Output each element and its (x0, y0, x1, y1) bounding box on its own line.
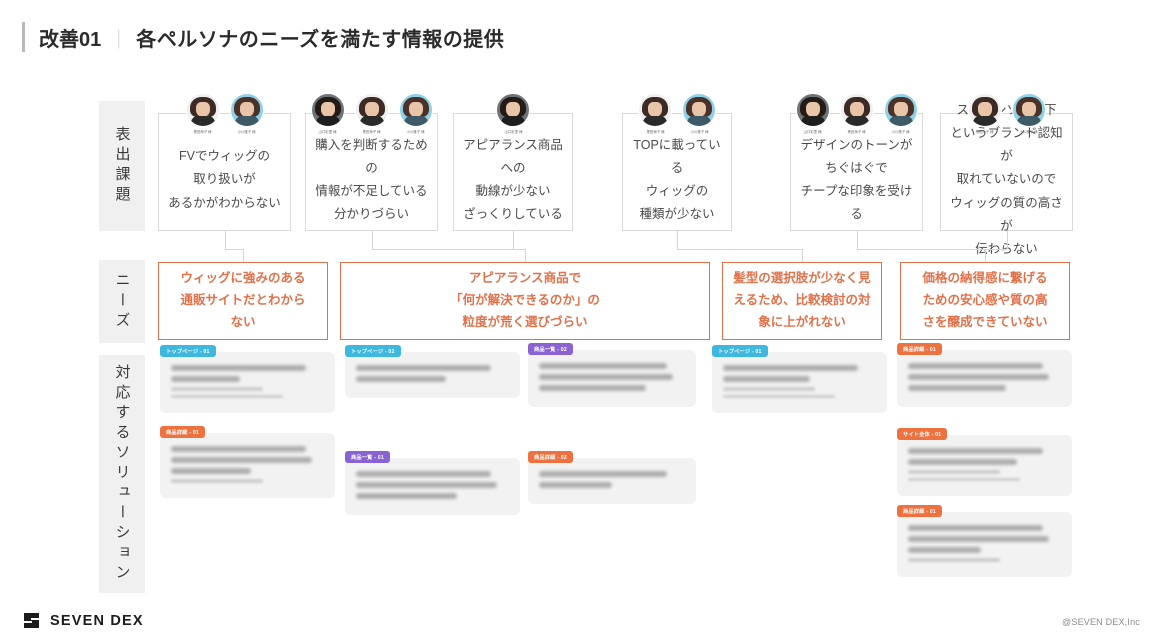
card-text-line (539, 385, 646, 391)
solution-card[interactable]: トップページ - 01 (160, 352, 335, 413)
persona: 小川雅子 様 (227, 93, 267, 136)
solution-badge: 商品詳細 - 02 (528, 451, 573, 463)
need-text: 価格の納得感に繋げる ための安心感や質の高 さを醸成できていない (922, 268, 1047, 334)
persona-name: 小川雅子 様 (1019, 129, 1037, 135)
card-text-line (723, 376, 810, 382)
card-text-line (356, 493, 457, 499)
persona-group: 黒田海子 様 小川雅子 様 (941, 93, 1072, 136)
issue-box: 山口彩里 様 黒田海子 様 小川雅子 様 購入を判断するための 情報が不足してい… (305, 113, 438, 231)
card-text-line (539, 363, 667, 369)
footer-logo: SEVEN DEX (22, 611, 144, 630)
persona: 黒田海子 様 (352, 93, 392, 136)
solution-badge: トップページ - 02 (345, 345, 401, 357)
connector-line (225, 231, 226, 249)
avatar (968, 93, 1002, 127)
persona-name: 山口彩里 様 (803, 129, 821, 135)
persona-group: 山口彩里 様 (454, 93, 572, 136)
slide-canvas: 改善01｜各ペルソナのニーズを満たす情報の提供 表出課題 ニーズ 対応するソリュ… (0, 0, 1160, 642)
issue-box: 黒田海子 様 小川雅子 様 FVでウィッグの 取り扱いが あるかがわからない (158, 113, 291, 231)
card-text-line (356, 471, 491, 477)
avatar (399, 93, 433, 127)
persona-group: 黒田海子 様 小川雅子 様 (623, 93, 731, 136)
solution-card[interactable]: トップページ - 02 (345, 352, 520, 398)
solution-badge: トップページ - 01 (712, 345, 768, 357)
solution-badge: 商品一覧 - 02 (528, 343, 573, 355)
solution-card[interactable]: 商品詳細 - 01 (160, 433, 335, 498)
persona-name: 小川雅子 様 (891, 129, 909, 135)
card-subtext-line (723, 395, 835, 399)
connector-line (225, 249, 244, 250)
card-text-line (356, 365, 491, 371)
issue-text: TOPに載っている ウィッグの 種類が少ない (629, 134, 725, 227)
title-heading: 各ペルソナのニーズを満たす情報の提供 (136, 29, 504, 51)
persona: 黒田海子 様 (183, 93, 223, 136)
connector-line (525, 249, 526, 262)
solution-card[interactable]: 商品詳細 - 01 (897, 512, 1072, 577)
connector-line (677, 249, 802, 250)
solution-badge: サイト全体 - 01 (897, 428, 947, 440)
solution-badge: 商品詳細 - 01 (897, 505, 942, 517)
persona-group: 黒田海子 様 小川雅子 様 (159, 93, 290, 136)
persona-name: 黒田海子 様 (193, 129, 211, 135)
persona-name: 黒田海子 様 (646, 129, 664, 135)
avatar (311, 93, 345, 127)
avatar (796, 93, 830, 127)
persona: 黒田海子 様 (837, 93, 877, 136)
issue-text: アピアランス商品への 動線が少ない ざっくりしている (460, 134, 566, 227)
card-subtext-line (171, 387, 263, 391)
avatar (355, 93, 389, 127)
card-text-line (539, 471, 667, 477)
persona-group: 山口彩里 様 黒田海子 様 小川雅子 様 (791, 93, 922, 136)
persona-name: 山口彩里 様 (318, 129, 336, 135)
card-text-line (171, 365, 306, 371)
issue-text: 購入を判断するための 情報が不足している 分かりづらい (312, 134, 431, 227)
issue-box: 山口彩里 様 アピアランス商品への 動線が少ない ざっくりしている (453, 113, 573, 231)
need-box: ウィッグに強みのある 通販サイトだとわから ない (158, 262, 328, 340)
connector-line (802, 249, 803, 262)
solution-badge: 商品一覧 - 01 (345, 451, 390, 463)
avatar (840, 93, 874, 127)
issue-box: 黒田海子 様 小川雅子 様 TOPに載っている ウィッグの 種類が少ない (622, 113, 732, 231)
avatar (230, 93, 264, 127)
connector-line (1007, 231, 1008, 249)
persona-name: 山口彩里 様 (504, 129, 522, 135)
avatar (638, 93, 672, 127)
card-text-line (908, 448, 1043, 454)
row-label-issues: 表出課題 (99, 101, 145, 231)
connector-line (372, 249, 526, 250)
solution-badge: 商品詳細 - 01 (897, 343, 942, 355)
copyright-text: @SEVEN DEX,Inc (1062, 617, 1140, 627)
persona-name: 小川雅子 様 (690, 129, 708, 135)
persona: 山口彩里 様 (793, 93, 833, 136)
card-text-line (723, 365, 858, 371)
persona: 山口彩里 様 (493, 93, 533, 136)
title-number: 改善01 (39, 29, 101, 51)
issue-box: 黒田海子 様 小川雅子 様 スヴェンソン傘下 というブランド認知が 取れていない… (940, 113, 1073, 231)
card-subtext-line (723, 387, 815, 391)
persona: 小川雅子 様 (881, 93, 921, 136)
card-subtext-line (171, 395, 283, 399)
solution-card[interactable]: 商品一覧 - 01 (345, 458, 520, 515)
persona-name: 小川雅子 様 (406, 129, 424, 135)
card-text-line (356, 482, 497, 488)
persona-name: 黒田海子 様 (847, 129, 865, 135)
card-text-line (908, 374, 1049, 380)
card-text-line (908, 547, 981, 553)
card-text-line (539, 482, 612, 488)
need-box: 髪型の選択肢が少なく見 えるため、比較検討の対 象に上がれない (722, 262, 882, 340)
card-text-line (908, 536, 1049, 542)
card-text-line (539, 374, 673, 380)
connector-line (372, 231, 373, 249)
seven-dex-logo-icon (22, 611, 41, 630)
title-accent-bar (22, 22, 25, 52)
persona: 小川雅子 様 (396, 93, 436, 136)
connector-line (677, 231, 678, 249)
card-subtext-line (171, 479, 263, 483)
need-box: アピアランス商品で 「何が解決できるのか」の 粒度が荒く選びづらい (340, 262, 710, 340)
need-text: アピアランス商品で 「何が解決できるのか」の 粒度が荒く選びづらい (450, 268, 600, 334)
issue-text: FVでウィッグの 取り扱いが あるかがわからない (168, 145, 281, 214)
card-text-line (171, 376, 240, 382)
connector-line (513, 231, 514, 249)
avatar (186, 93, 220, 127)
need-text: ウィッグに強みのある 通販サイトだとわから ない (180, 268, 305, 334)
connector-line (985, 249, 986, 262)
card-text-line (356, 376, 446, 382)
card-text-line (908, 525, 1043, 531)
avatar (682, 93, 716, 127)
title-separator: ｜ (109, 30, 128, 51)
avatar (1012, 93, 1046, 127)
avatar (496, 93, 530, 127)
solution-card[interactable]: 商品一覧 - 02 (528, 350, 696, 407)
solution-card[interactable]: サイト全体 - 01 (897, 435, 1072, 496)
persona-name: 黒田海子 様 (362, 129, 380, 135)
card-text-line (171, 457, 312, 463)
card-subtext-line (908, 558, 1000, 562)
solution-card[interactable]: 商品詳細 - 01 (897, 350, 1072, 407)
card-text-line (908, 385, 1006, 391)
persona-name: 小川雅子 様 (237, 129, 255, 135)
card-subtext-line (908, 478, 1020, 482)
footer-logo-text: SEVEN DEX (50, 613, 144, 629)
connector-line (243, 249, 244, 262)
page-title: 改善01｜各ペルソナのニーズを満たす情報の提供 (22, 22, 504, 52)
row-label-solutions: 対応するソリューション (99, 355, 145, 593)
solution-badge: トップページ - 01 (160, 345, 216, 357)
connector-line (857, 249, 1007, 250)
row-label-needs: ニーズ (99, 260, 145, 343)
persona-group: 山口彩里 様 黒田海子 様 小川雅子 様 (306, 93, 437, 136)
card-text-line (171, 468, 251, 474)
solution-card[interactable]: トップページ - 01 (712, 352, 887, 413)
need-box: 価格の納得感に繋げる ための安心感や質の高 さを醸成できていない (900, 262, 1070, 340)
persona: 山口彩里 様 (308, 93, 348, 136)
title-line: 改善01｜各ペルソナのニーズを満たす情報の提供 (39, 23, 504, 52)
persona: 小川雅子 様 (1009, 93, 1049, 136)
solution-card[interactable]: 商品詳細 - 02 (528, 458, 696, 504)
avatar (884, 93, 918, 127)
issue-box: 山口彩里 様 黒田海子 様 小川雅子 様 デザインのトーンが ちぐはぐで チープ… (790, 113, 923, 231)
issue-text: デザインのトーンが ちぐはぐで チープな印象を受ける (797, 134, 916, 227)
card-text-line (171, 446, 306, 452)
persona-name: 黒田海子 様 (975, 129, 993, 135)
card-text-line (908, 363, 1043, 369)
card-subtext-line (908, 470, 1000, 474)
persona: 黒田海子 様 (965, 93, 1005, 136)
persona: 小川雅子 様 (679, 93, 719, 136)
need-text: 髪型の選択肢が少なく見 えるため、比較検討の対 象に上がれない (733, 268, 871, 334)
connector-line (857, 231, 858, 249)
persona: 黒田海子 様 (635, 93, 675, 136)
card-text-line (908, 459, 1017, 465)
solution-badge: 商品詳細 - 01 (160, 426, 205, 438)
